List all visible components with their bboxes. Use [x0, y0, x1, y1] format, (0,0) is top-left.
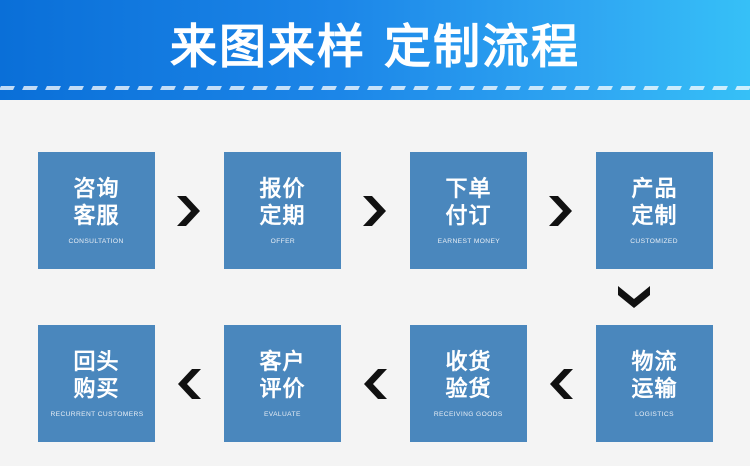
flow-step-recurrent-customers-cn: 回头 购买: [73, 349, 119, 403]
arrow-customized-to-logistics: [614, 278, 654, 316]
flow-step-receiving-goods-en: RECEIVING GOODS: [434, 412, 503, 419]
chevron-left-icon: [175, 367, 205, 401]
flow-step-offer-cn: 报价 定期: [259, 176, 305, 230]
flow-step-consultation-en: CONSULTATION: [69, 239, 124, 246]
chevron-right-icon: [361, 194, 391, 228]
flow-step-offer[interactable]: 报价 定期 OFFER: [224, 152, 341, 269]
arrow-evaluate-to-recurrent-customers: [155, 325, 224, 442]
chevron-down-icon: [616, 284, 652, 310]
chevron-right-icon: [547, 194, 577, 228]
flow-step-recurrent-customers-en: RECURRENT CUSTOMERS: [50, 412, 143, 419]
chevron-left-icon: [361, 367, 391, 401]
arrow-earnest-money-to-customized: [527, 152, 596, 269]
arrow-receiving-goods-to-evaluate: [341, 325, 410, 442]
flow-step-earnest-money[interactable]: 下单 付订 EARNEST MONEY: [410, 152, 527, 269]
flow-step-recurrent-customers[interactable]: 回头 购买 RECURRENT CUSTOMERS: [38, 325, 155, 442]
page-title: 来图来样定制流程: [170, 23, 580, 78]
flow-step-evaluate[interactable]: 客户 评价 EVALUATE: [224, 325, 341, 442]
banner-dash-decoration: [0, 82, 750, 94]
flow-step-consultation[interactable]: 咨询 客服 CONSULTATION: [38, 152, 155, 269]
flow-step-earnest-money-en: EARNEST MONEY: [437, 239, 499, 246]
flow-step-logistics-cn: 物流 运输: [631, 349, 677, 403]
arrow-offer-to-earnest-money: [341, 152, 410, 269]
arrow-logistics-to-receiving-goods: [527, 325, 596, 442]
flow-step-consultation-cn: 咨询 客服: [73, 176, 119, 230]
flow-step-customized-cn: 产品 定制: [631, 176, 677, 230]
banner-title-part2: 定制流程: [384, 20, 580, 73]
page-root: 来图来样定制流程 咨询 客服 CONSULTATION: [0, 0, 750, 466]
flow-step-offer-en: OFFER: [270, 239, 294, 246]
header-banner: 来图来样定制流程: [0, 0, 750, 100]
flow-row-top: 咨询 客服 CONSULTATION 报价 定期 OFFER: [38, 152, 713, 269]
chevron-right-icon: [175, 194, 205, 228]
flow-step-evaluate-en: EVALUATE: [264, 412, 301, 419]
flow-step-earnest-money-cn: 下单 付订: [445, 176, 491, 230]
flow-step-logistics[interactable]: 物流 运输 LOGISTICS: [596, 325, 713, 442]
flow-step-logistics-en: LOGISTICS: [635, 412, 674, 419]
flow-step-evaluate-cn: 客户 评价: [259, 349, 305, 403]
flow-step-customized[interactable]: 产品 定制 CUSTOMIZED: [596, 152, 713, 269]
flow-diagram: 咨询 客服 CONSULTATION 报价 定期 OFFER: [0, 100, 750, 466]
chevron-left-icon: [547, 367, 577, 401]
banner-title-part1: 来图来样: [170, 20, 366, 73]
flow-step-receiving-goods[interactable]: 收货 验货 RECEIVING GOODS: [410, 325, 527, 442]
flow-step-receiving-goods-cn: 收货 验货: [445, 349, 491, 403]
flow-step-customized-en: CUSTOMIZED: [631, 239, 679, 246]
flow-row-bottom: 回头 购买 RECURRENT CUSTOMERS 客户 评价 EVALUATE: [38, 325, 713, 442]
arrow-consultation-to-offer: [155, 152, 224, 269]
